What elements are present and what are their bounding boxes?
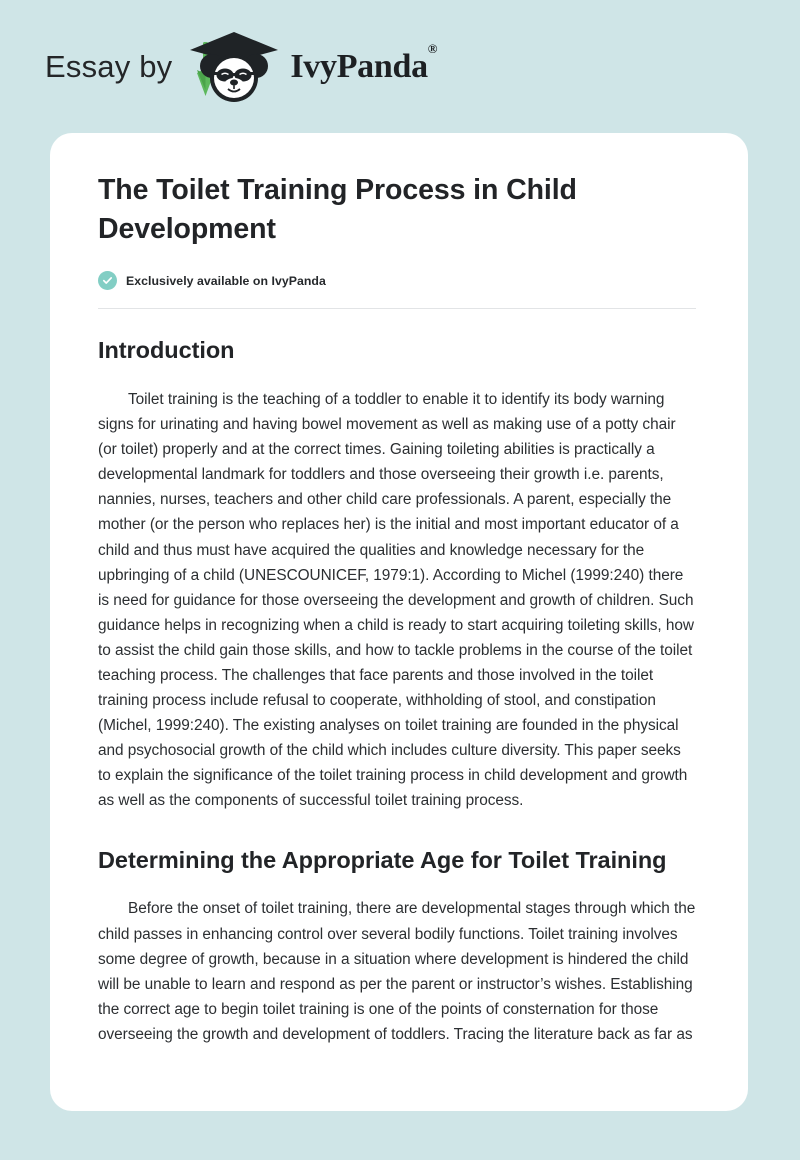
section-heading-appropriate-age: Determining the Appropriate Age for Toil… (98, 844, 696, 877)
document-card: The Toilet Training Process in Child Dev… (50, 133, 748, 1111)
header-divider (98, 308, 696, 309)
paragraph-appropriate-age-1: Before the onset of toilet training, the… (98, 896, 696, 1047)
exclusive-badge-label: Exclusively available on IvyPanda (126, 274, 326, 288)
brand-wordmark-text: IvyPanda (290, 48, 427, 85)
panda-graduate-logo-icon (186, 30, 282, 104)
essay-by-label: Essay by (45, 51, 172, 82)
check-circle-icon (98, 271, 117, 290)
page-title: The Toilet Training Process in Child Dev… (98, 171, 696, 249)
document-body: The Toilet Training Process in Child Dev… (74, 171, 722, 1047)
trademark-symbol: ® (428, 41, 437, 56)
paragraph-introduction-1: Toilet training is the teaching of a tod… (98, 387, 696, 814)
section-heading-introduction: Introduction (98, 334, 696, 367)
brand-wordmark: IvyPanda® (290, 50, 437, 84)
brand-logo-group[interactable]: Essay by (45, 30, 437, 104)
exclusive-badge: Exclusively available on IvyPanda (98, 271, 696, 290)
brand-header: Essay by (0, 0, 800, 133)
